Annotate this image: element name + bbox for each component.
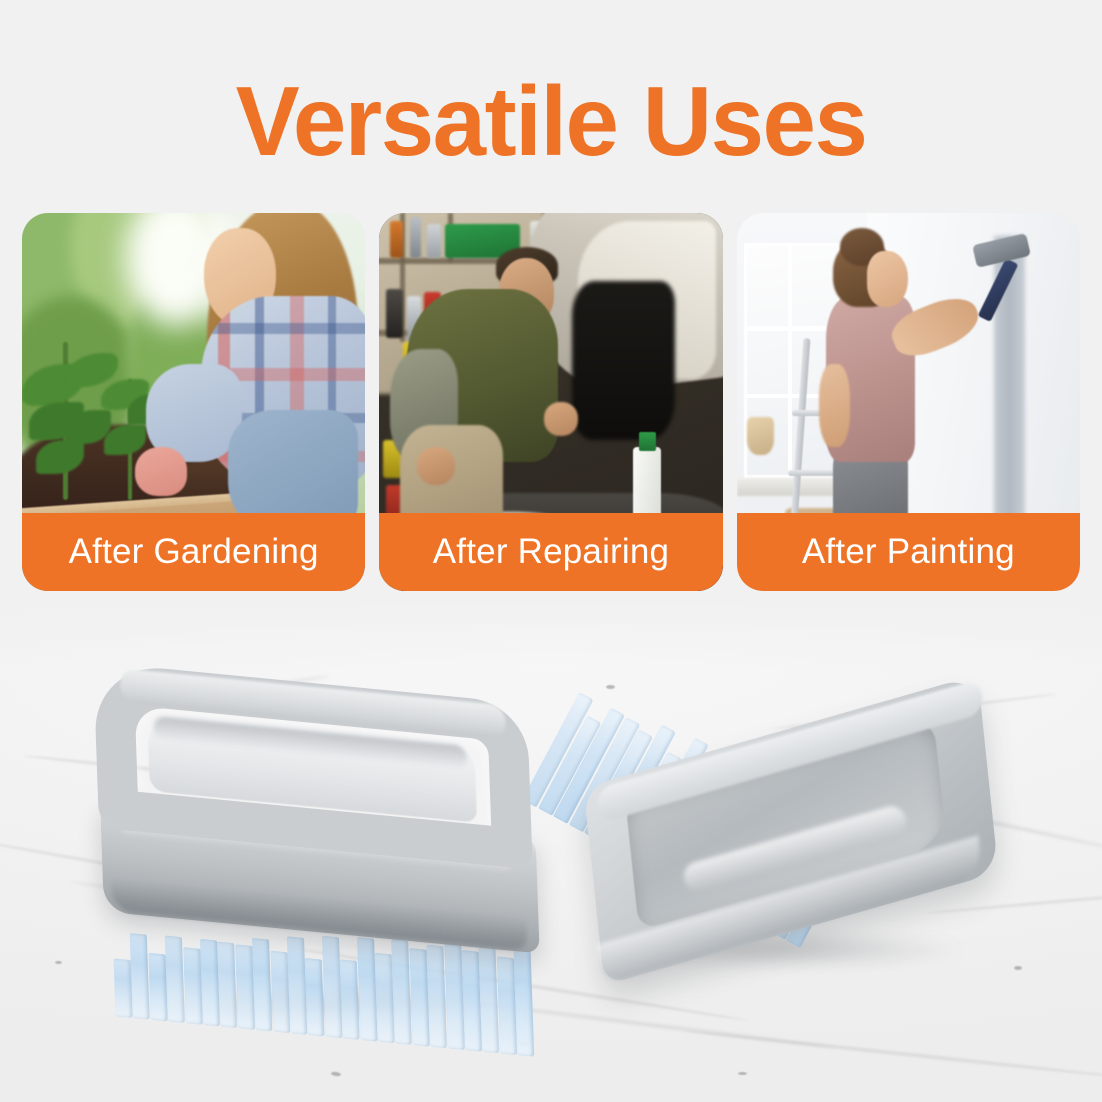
bristle-tuft [165,935,185,1023]
use-case-card-row: After Gardening [22,213,1080,591]
use-case-card-painting[interactable]: After Painting [737,213,1080,591]
bristle-tuft [130,933,150,1020]
bristle-tuft [287,936,307,1035]
bristle-tuft [513,939,534,1057]
card-caption-painting: After Painting [737,513,1080,591]
product-infographic: Versatile Uses [0,0,1102,1102]
bristle-tuft [148,952,167,1021]
card-caption-repairing: After Repairing [379,513,722,591]
product-photo [0,600,1102,1102]
bristle-tuft [305,958,325,1037]
scrub-brush-flipped [530,622,1050,1042]
bristle-tuft [252,938,272,1031]
bristle-tuft [340,959,360,1040]
use-case-card-repairing[interactable]: After Repairing [379,213,722,591]
use-case-card-gardening[interactable]: After Gardening [22,213,365,591]
scrub-brush-upright [79,643,593,1060]
bristle-tuft [114,958,133,1018]
card-caption-gardening: After Gardening [22,513,365,591]
bristle-tuft [217,942,237,1028]
bristle-tuft [183,947,203,1025]
page-title: Versatile Uses [11,72,1091,170]
bristle-tuft [322,936,343,1039]
